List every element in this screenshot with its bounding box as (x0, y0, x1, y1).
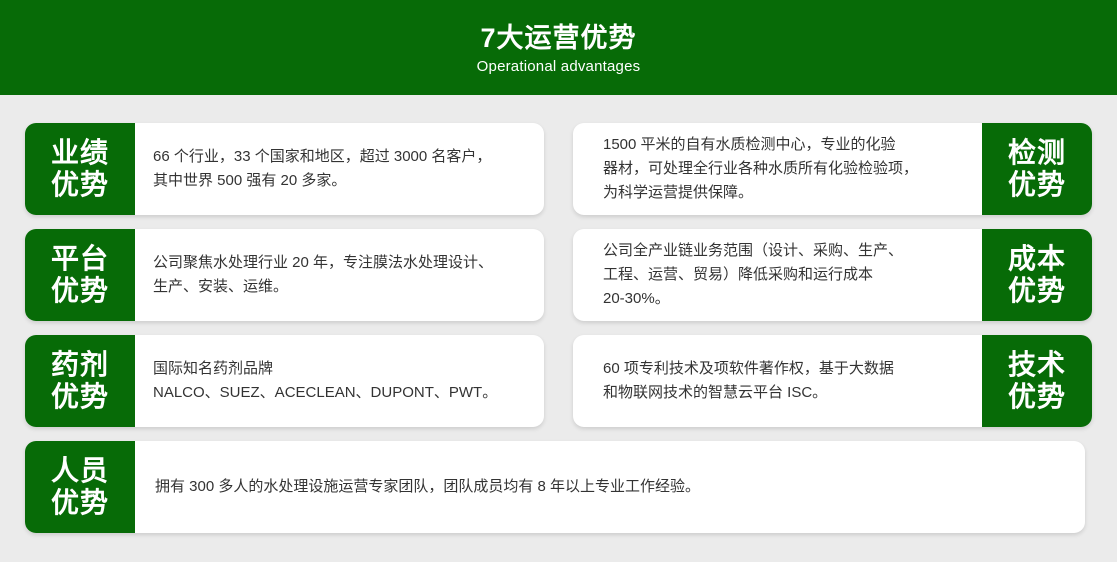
card-label-line-2: 优势 (51, 381, 109, 413)
card-body-performance: 66 个行业，33 个国家和地区，超过 3000 名客户， 其中世界 500 强… (135, 123, 544, 215)
card-label-line-1: 平台 (51, 243, 109, 275)
card-label-line-1: 业绩 (51, 137, 109, 169)
page-subtitle: Operational advantages (477, 58, 641, 76)
card-label-line-2: 优势 (51, 487, 109, 519)
card-text: 66 个行业，33 个国家和地区，超过 3000 名客户， 其中世界 500 强… (153, 145, 491, 194)
card-text: 国际知名药剂品牌 NALCO、SUEZ、ACECLEAN、DUPONT、PWT。 (153, 357, 497, 406)
card-label-line-2: 优势 (1008, 381, 1066, 413)
card-text: 拥有 300 多人的水处理设施运营专家团队，团队成员均有 8 年以上专业工作经验… (155, 475, 700, 499)
card-label-line-2: 优势 (1008, 275, 1066, 307)
card-body-platform: 公司聚焦水处理行业 20 年，专注膜法水处理设计、 生产、安装、运维。 (135, 229, 544, 321)
card-label-technology: 技术 优势 (982, 335, 1092, 427)
card-text: 60 项专利技术及项软件著作权，基于大数据 和物联网技术的智慧云平台 ISC。 (603, 357, 894, 406)
advantage-card-testing[interactable]: 1500 平米的自有水质检测中心，专业的化验 器材，可处理全行业各种水质所有化验… (573, 123, 1092, 215)
card-body-cost: 公司全产业链业务范围（设计、采购、生产、 工程、运营、贸易）降低采购和运行成本 … (573, 229, 982, 321)
advantage-card-performance[interactable]: 业绩 优势 66 个行业，33 个国家和地区，超过 3000 名客户， 其中世界… (25, 123, 544, 215)
card-label-chemical: 药剂 优势 (25, 335, 135, 427)
card-row-1: 业绩 优势 66 个行业，33 个国家和地区，超过 3000 名客户， 其中世界… (25, 123, 1092, 215)
card-row-3: 药剂 优势 国际知名药剂品牌 NALCO、SUEZ、ACECLEAN、DUPON… (25, 335, 1092, 427)
card-body-technology: 60 项专利技术及项软件著作权，基于大数据 和物联网技术的智慧云平台 ISC。 (573, 335, 982, 427)
card-label-line-1: 技术 (1008, 349, 1066, 381)
advantages-page: 7大运营优势 Operational advantages 业绩 优势 66 个… (0, 0, 1117, 562)
advantage-card-cost[interactable]: 公司全产业链业务范围（设计、采购、生产、 工程、运营、贸易）降低采购和运行成本 … (573, 229, 1092, 321)
card-label-platform: 平台 优势 (25, 229, 135, 321)
card-label-line-1: 药剂 (51, 349, 109, 381)
page-header: 7大运营优势 Operational advantages (0, 0, 1117, 95)
card-row-2: 平台 优势 公司聚焦水处理行业 20 年，专注膜法水处理设计、 生产、安装、运维… (25, 229, 1092, 321)
advantage-card-technology[interactable]: 60 项专利技术及项软件著作权，基于大数据 和物联网技术的智慧云平台 ISC。 … (573, 335, 1092, 427)
advantage-card-chemical[interactable]: 药剂 优势 国际知名药剂品牌 NALCO、SUEZ、ACECLEAN、DUPON… (25, 335, 544, 427)
card-label-line-1: 成本 (1008, 243, 1066, 275)
card-body-testing: 1500 平米的自有水质检测中心，专业的化验 器材，可处理全行业各种水质所有化验… (573, 123, 982, 215)
card-label-line-1: 人员 (51, 455, 109, 487)
card-label-line-2: 优势 (51, 275, 109, 307)
card-text: 公司聚焦水处理行业 20 年，专注膜法水处理设计、 生产、安装、运维。 (153, 251, 493, 300)
card-body-chemical: 国际知名药剂品牌 NALCO、SUEZ、ACECLEAN、DUPONT、PWT。 (135, 335, 544, 427)
advantage-card-platform[interactable]: 平台 优势 公司聚焦水处理行业 20 年，专注膜法水处理设计、 生产、安装、运维… (25, 229, 544, 321)
card-row-4: 人员 优势 拥有 300 多人的水处理设施运营专家团队，团队成员均有 8 年以上… (25, 441, 1092, 533)
card-label-testing: 检测 优势 (982, 123, 1092, 215)
card-text: 1500 平米的自有水质检测中心，专业的化验 器材，可处理全行业各种水质所有化验… (603, 133, 918, 206)
card-label-line-2: 优势 (51, 169, 109, 201)
card-label-performance: 业绩 优势 (25, 123, 135, 215)
card-label-line-1: 检测 (1008, 137, 1066, 169)
card-label-personnel: 人员 优势 (25, 441, 135, 533)
card-label-line-2: 优势 (1008, 169, 1066, 201)
card-label-cost: 成本 优势 (982, 229, 1092, 321)
page-title: 7大运营优势 (480, 23, 636, 54)
advantage-card-personnel[interactable]: 人员 优势 拥有 300 多人的水处理设施运营专家团队，团队成员均有 8 年以上… (25, 441, 1085, 533)
card-text: 公司全产业链业务范围（设计、采购、生产、 工程、运营、贸易）降低采购和运行成本 … (603, 239, 903, 312)
advantage-card-grid: 业绩 优势 66 个行业，33 个国家和地区，超过 3000 名客户， 其中世界… (0, 95, 1117, 562)
card-body-personnel: 拥有 300 多人的水处理设施运营专家团队，团队成员均有 8 年以上专业工作经验… (135, 441, 1085, 533)
